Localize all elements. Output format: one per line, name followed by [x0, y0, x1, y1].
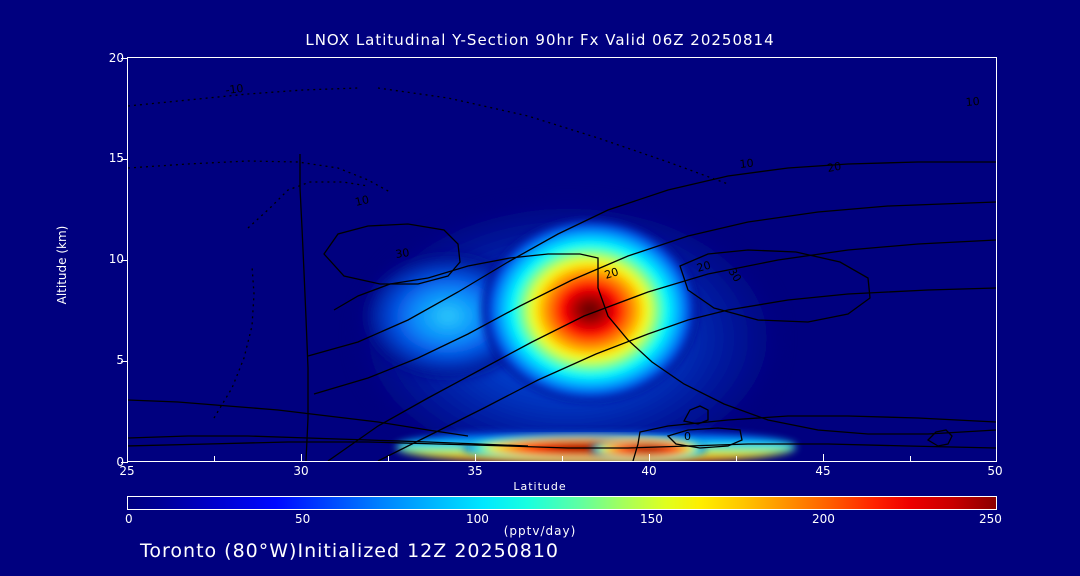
- chart-title: LNOX Latitudinal Y-Section 90hr Fx Valid…: [0, 31, 1080, 49]
- x-tick-mark: [910, 456, 911, 462]
- x-tick-label: 50: [987, 464, 1002, 478]
- y-tick-mark: [121, 260, 128, 261]
- x-tick-mark: [388, 456, 389, 462]
- colorbar-gradient: [128, 497, 996, 509]
- x-tick-mark: [736, 456, 737, 462]
- y-tick-label: 0: [84, 455, 124, 469]
- x-tick-mark: [475, 454, 476, 462]
- x-tick-mark: [301, 454, 302, 462]
- y-axis-title: Altitude (km): [55, 185, 69, 345]
- y-tick-mark: [121, 462, 128, 463]
- x-tick-mark: [823, 454, 824, 462]
- x-tick-mark: [214, 456, 215, 462]
- x-tick-mark: [649, 454, 650, 462]
- contour-label: -10: [225, 82, 244, 97]
- x-tick-mark: [562, 456, 563, 462]
- x-tick-label: 25: [119, 464, 134, 478]
- figure-canvas: LNOX Latitudinal Y-Section 90hr Fx Valid…: [0, 0, 1080, 576]
- colorbar-units-label: (pptv/day): [0, 524, 1080, 538]
- contour-label: 10: [965, 95, 980, 109]
- x-tick-label: 40: [641, 464, 656, 478]
- y-tick-label: 10: [84, 252, 124, 266]
- y-tick-mark: [121, 159, 128, 160]
- y-tick-mark: [121, 58, 128, 59]
- contour-label: 0: [684, 430, 691, 443]
- y-tick-label: 20: [84, 51, 124, 65]
- y-tick-label: 5: [84, 353, 124, 367]
- y-tick-mark: [121, 361, 128, 362]
- x-axis-title: Latitude: [0, 480, 1080, 493]
- contour-label: 20: [826, 160, 842, 175]
- plot-area: -10 10 10 10 20 20 20 30 30 0: [127, 57, 997, 462]
- x-tick-label: 30: [293, 464, 308, 478]
- contour-label: 30: [395, 246, 411, 261]
- x-tick-label: 45: [815, 464, 830, 478]
- contour-label: 10: [739, 157, 754, 171]
- colorbar[interactable]: [127, 496, 997, 510]
- station-init-label: Toronto (80°W)Initialized 12Z 20250810: [140, 540, 559, 562]
- field-and-contours: -10 10 10 10 20 20 20 30 30 0: [128, 58, 996, 461]
- y-tick-label: 15: [84, 151, 124, 165]
- x-tick-label: 35: [467, 464, 482, 478]
